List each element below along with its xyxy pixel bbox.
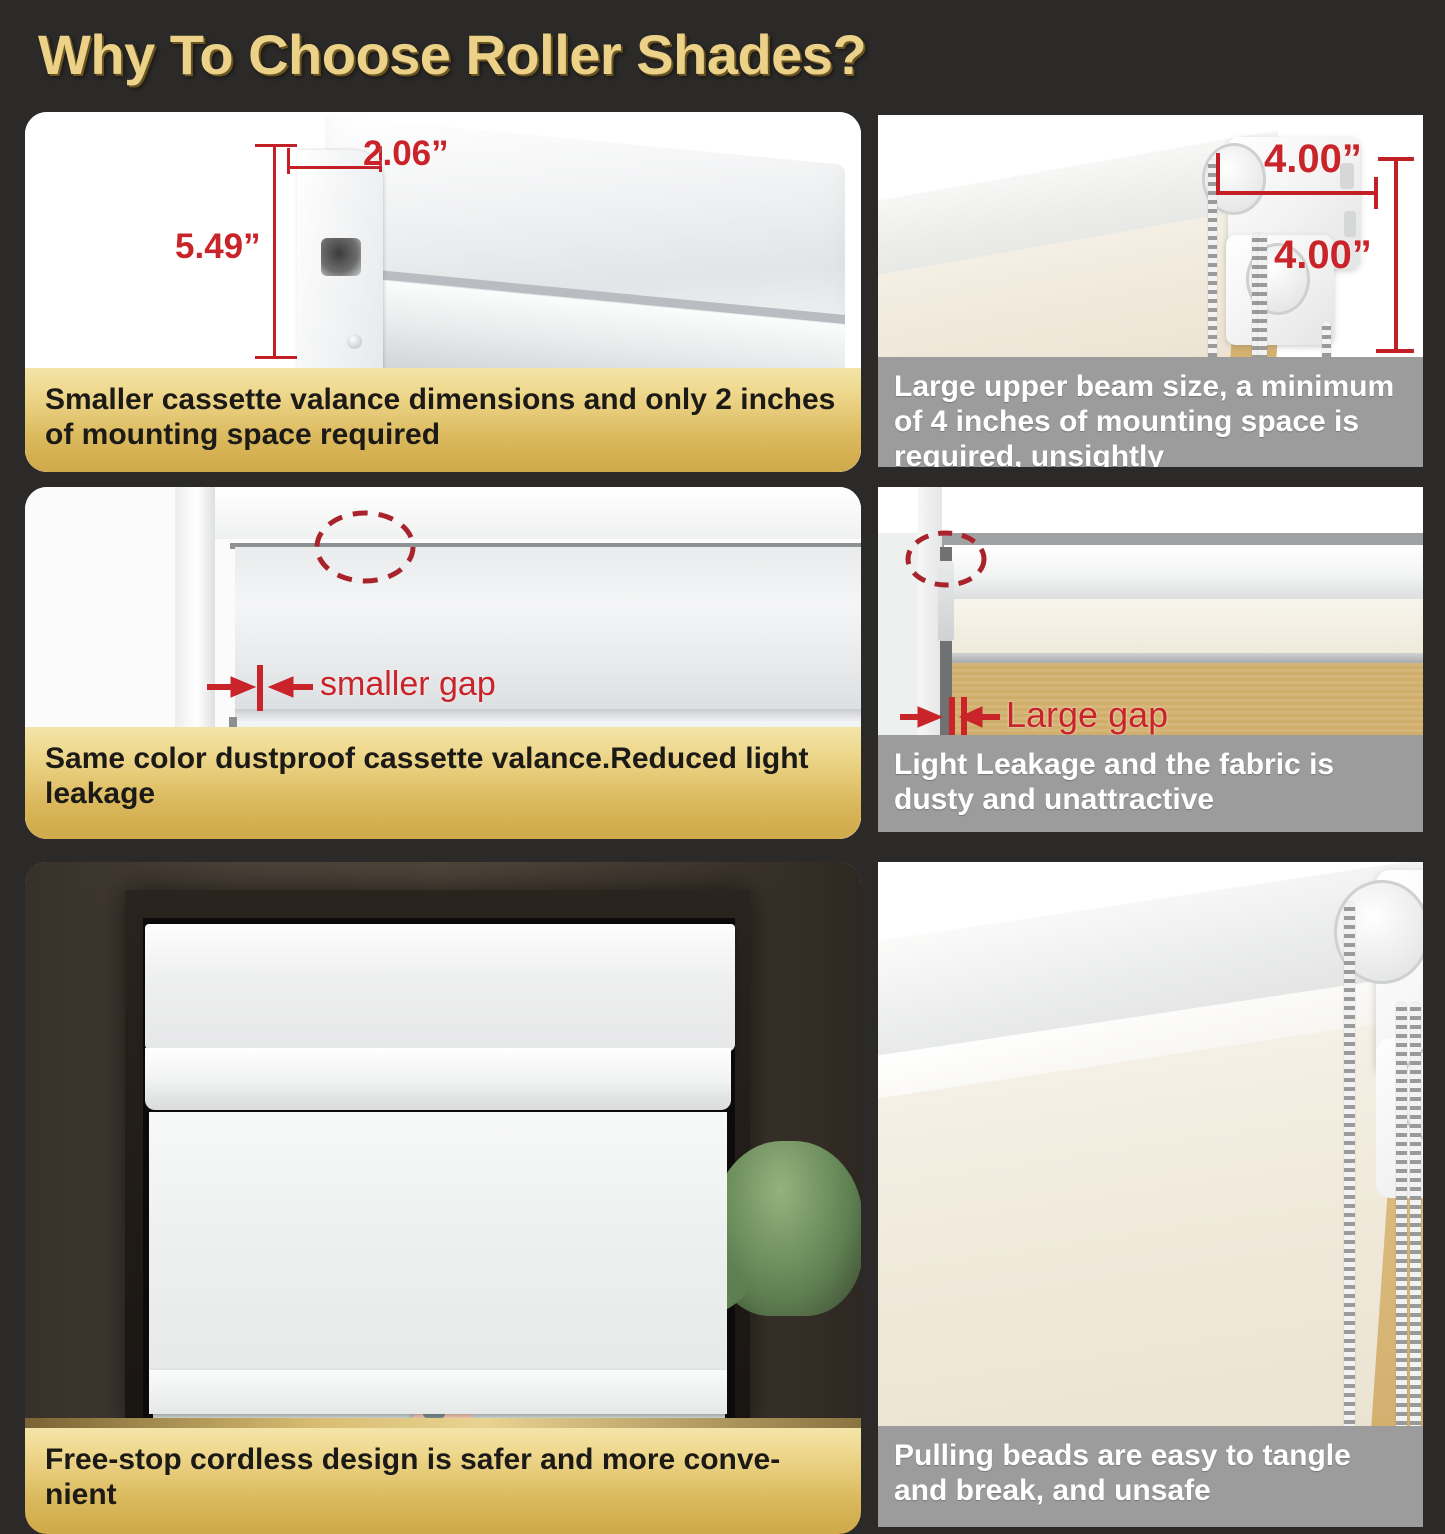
beam-width-dim-label: 4.00” bbox=[1264, 137, 1362, 182]
height-dim-tick-top bbox=[255, 144, 297, 147]
bead-chain-right bbox=[1258, 233, 1267, 365]
tree-shape bbox=[713, 1141, 861, 1316]
caption-pro-dustproof-valance: Same color dustproof cassette valance.Re… bbox=[25, 727, 861, 839]
caption-con-upper-beam-dimensions: Large upper beam size, a minimum of 4 in… bbox=[878, 357, 1423, 467]
large-gap-label: Large gap bbox=[1006, 694, 1168, 736]
panel-pro-cordless-design[interactable]: Free-stop cordless design is safer and m… bbox=[25, 862, 861, 1534]
shade-bottom-rail bbox=[149, 1370, 727, 1414]
beam-width-dim-line bbox=[1218, 191, 1378, 195]
beam-width-tick-left bbox=[1216, 153, 1220, 195]
valance-screw-icon bbox=[347, 334, 362, 349]
comparison-grid: 5.49” 2.06” Smaller cassette valance dim… bbox=[0, 112, 1445, 1445]
panel-con-pulling-beads[interactable]: Pulling beads are easy to tangle and bre… bbox=[878, 862, 1423, 1527]
panel-pro-dustproof-valance[interactable]: smaller gap Same color dustproof cassett… bbox=[25, 487, 861, 839]
panel-pro-cassette-dimensions[interactable]: 5.49” 2.06” Smaller cassette valance dim… bbox=[25, 112, 861, 472]
caption-con-pulling-beads: Pulling beads are easy to tangle and bre… bbox=[878, 1426, 1423, 1527]
caption-pro-cordless-design: Free-stop cordless design is safer and m… bbox=[25, 1428, 861, 1534]
beam-height-tick-top bbox=[1378, 157, 1414, 161]
caption-con-light-leakage: Light Leakage and the fabric is dusty an… bbox=[878, 735, 1423, 832]
height-dim-tick-bottom bbox=[255, 356, 297, 359]
cassette-lip bbox=[145, 1048, 731, 1110]
beam-height-tick-bottom bbox=[1376, 349, 1414, 353]
beam-height-dim-line bbox=[1394, 157, 1398, 353]
shade-fabric-panel bbox=[149, 1112, 727, 1384]
cassette-headrail bbox=[145, 924, 735, 1052]
caption-pro-cassette-dimensions: Smaller cassette valance dimensions and … bbox=[25, 368, 861, 472]
bead-chain-left bbox=[1344, 902, 1355, 1517]
page-title: Why To Choose Roller Shades? bbox=[38, 22, 866, 87]
infographic-page: Why To Choose Roller Shades? 5.49” bbox=[0, 0, 1445, 1445]
smaller-gap-label: smaller gap bbox=[320, 665, 496, 704]
panel-con-light-leakage[interactable]: Large gap Light Leakage and the fabric i… bbox=[878, 487, 1423, 832]
height-dim-line bbox=[273, 144, 276, 359]
width-dim-tick-left bbox=[287, 148, 290, 174]
width-dim-label: 2.06” bbox=[363, 134, 449, 174]
height-dim-label: 5.49” bbox=[175, 227, 261, 267]
beam-width-tick-right bbox=[1374, 177, 1378, 209]
valance-slot-icon bbox=[321, 238, 361, 276]
panel-con-upper-beam-dimensions[interactable]: 4.00” 4.00” Large upper beam size, a min… bbox=[878, 115, 1423, 467]
beam-height-dim-label: 4.00” bbox=[1274, 233, 1372, 278]
